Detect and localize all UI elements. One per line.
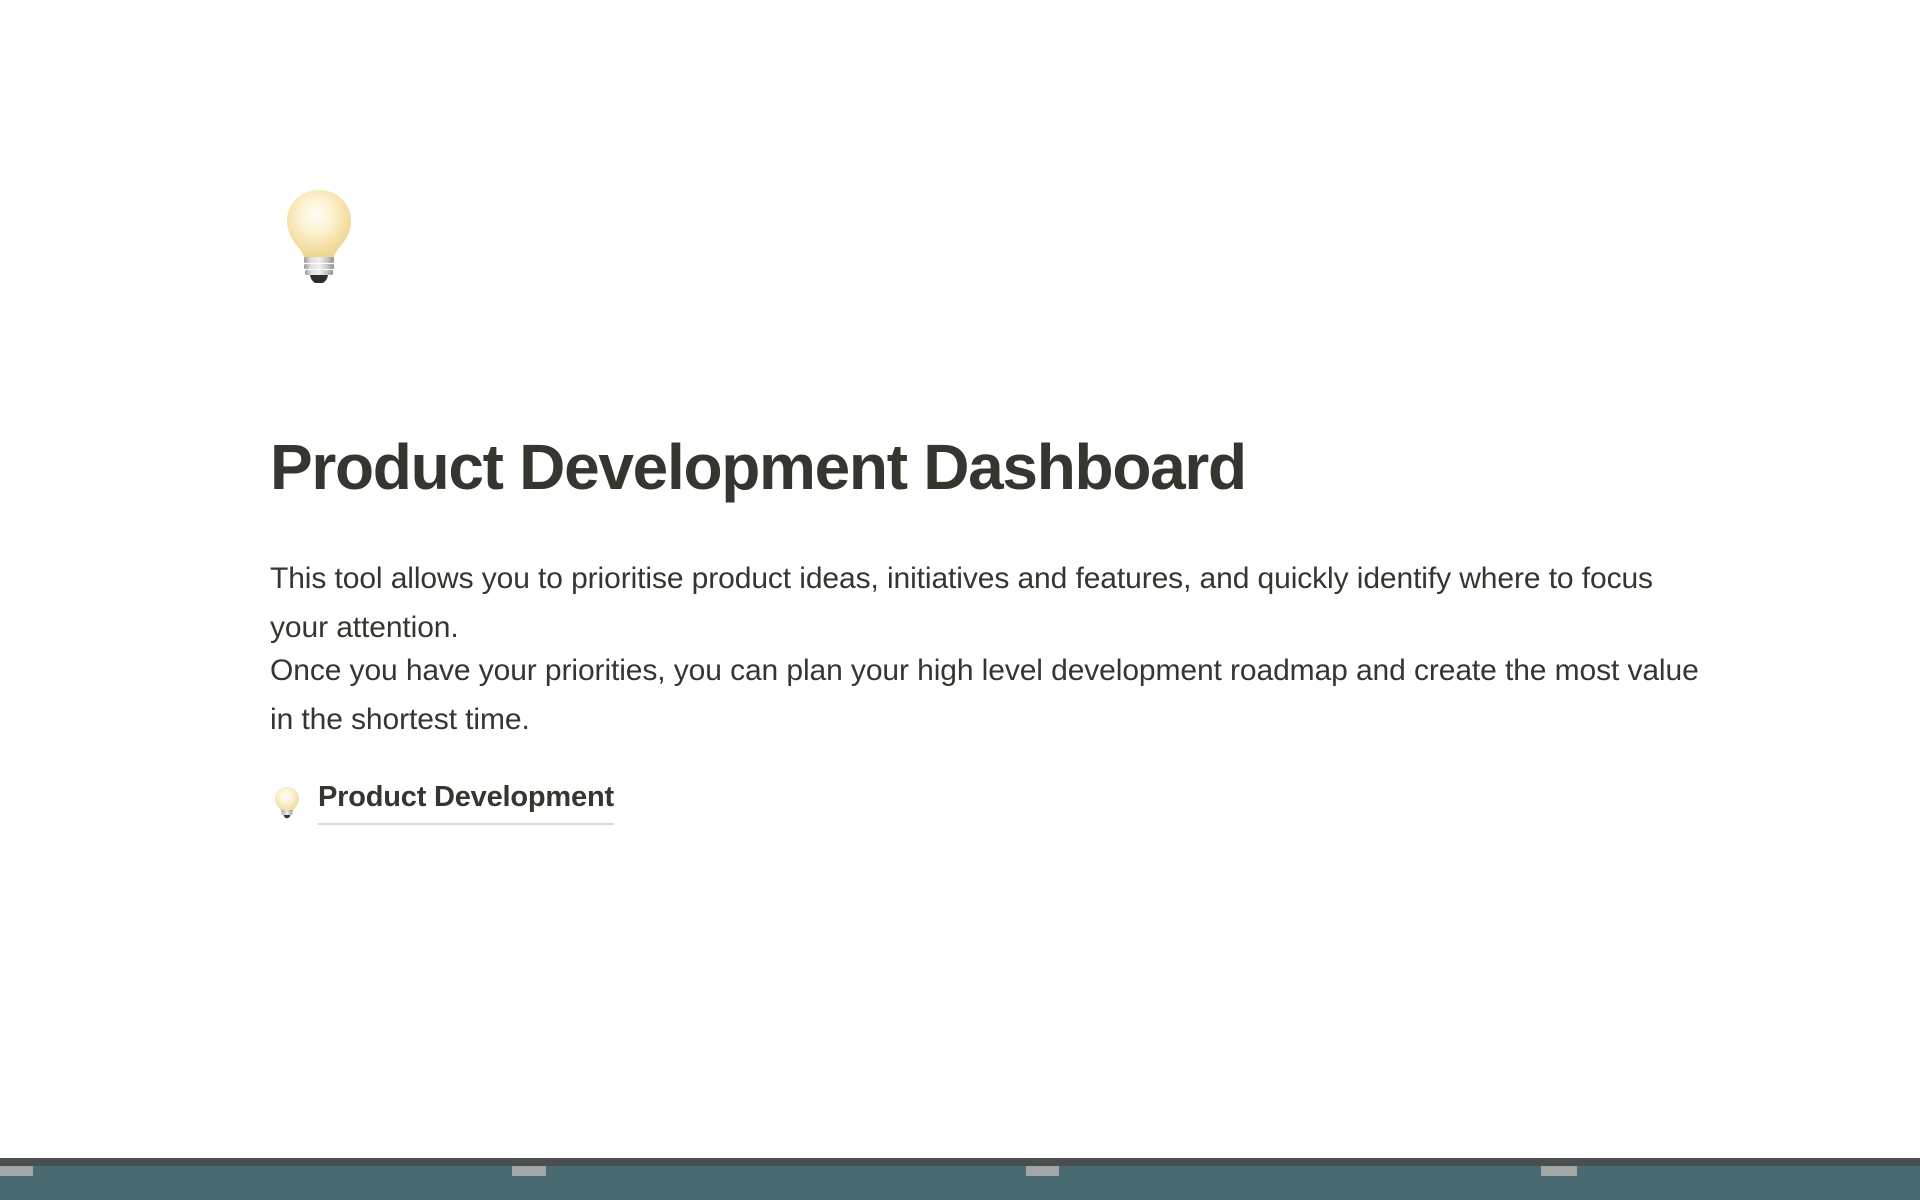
page-root: Product Development Dashboard This tool …: [0, 0, 1920, 1200]
page-link-product-development[interactable]: Product Development: [270, 780, 614, 824]
page-link-label: Product Development: [318, 780, 614, 825]
bottom-bar-tab[interactable]: [1541, 1166, 1577, 1176]
page-title[interactable]: Product Development Dashboard: [270, 428, 1720, 506]
bottom-bar-tab[interactable]: [1026, 1166, 1059, 1176]
document-scroll-area[interactable]: Product Development Dashboard This tool …: [0, 0, 1920, 1158]
lightbulb-icon: [270, 785, 304, 819]
intro-paragraph-2[interactable]: Once you have your priorities, you can p…: [270, 646, 1700, 744]
bottom-bar-tab[interactable]: [512, 1166, 546, 1176]
lightbulb-emoji-icon[interactable]: [270, 185, 368, 283]
intro-paragraph-1[interactable]: This tool allows you to prioritise produ…: [270, 554, 1700, 652]
bottom-bar-tab[interactable]: [0, 1166, 33, 1176]
bottom-app-bar: [0, 1158, 1920, 1200]
bottom-bar-rail: [0, 1158, 1920, 1166]
